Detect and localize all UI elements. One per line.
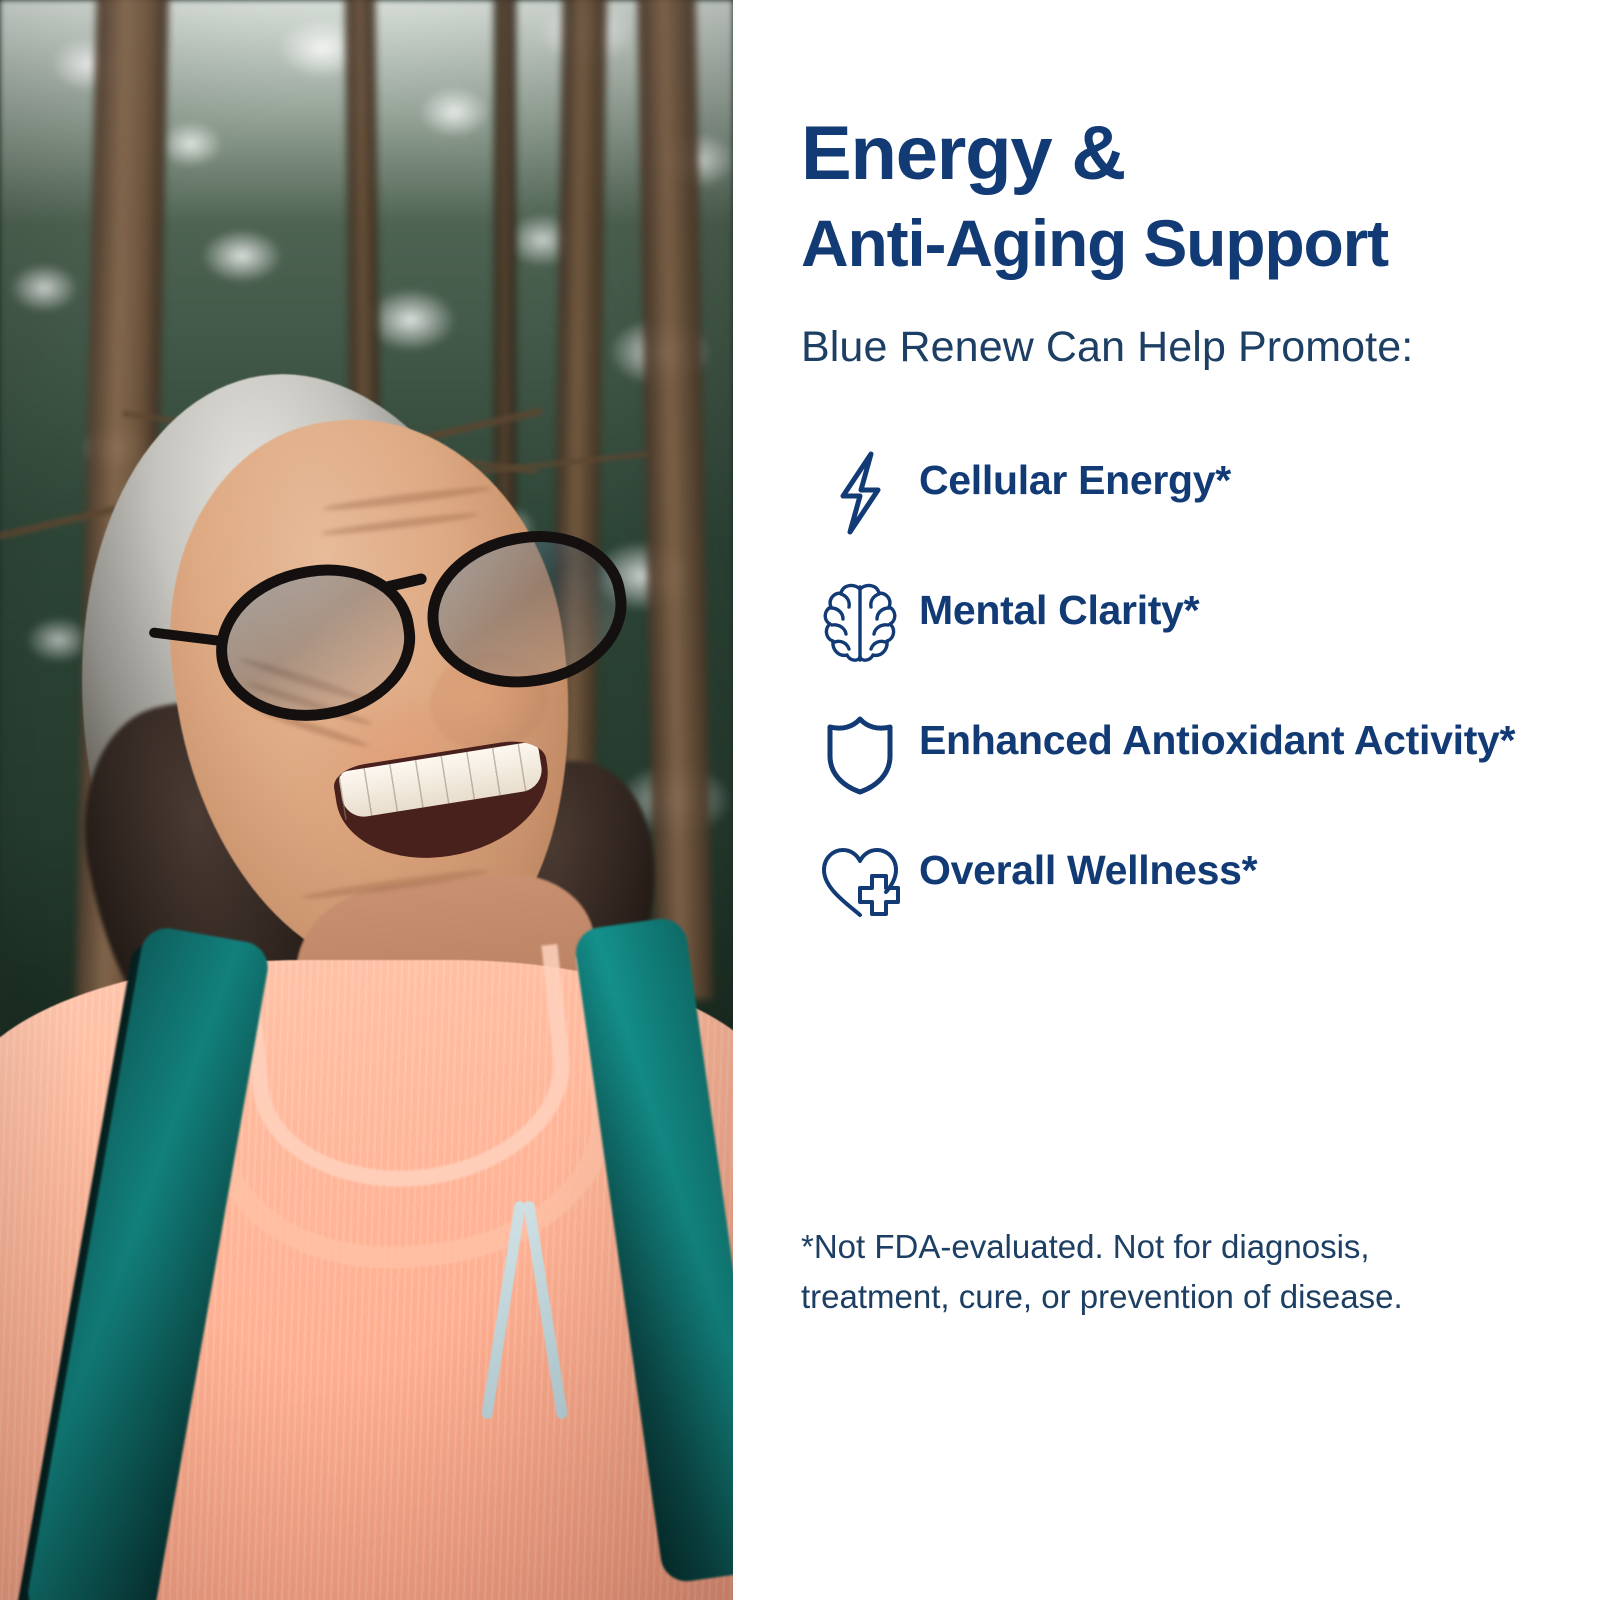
photo-vignette [0, 0, 733, 1600]
headline-line-2: Anti-Aging Support [801, 206, 1530, 280]
subtitle: Blue Renew Can Help Promote: [801, 318, 1530, 376]
shield-icon [801, 708, 919, 796]
benefit-label: Cellular Energy* [919, 448, 1231, 506]
benefit-item-cellular-energy: Cellular Energy* [801, 448, 1530, 540]
fda-disclaimer: *Not FDA-evaluated. Not for diagnosis, t… [801, 1222, 1421, 1322]
benefit-item-mental-clarity: Mental Clarity* [801, 578, 1530, 670]
page-title: Energy & Anti-Aging Support [801, 112, 1530, 280]
benefit-label: Mental Clarity* [919, 578, 1199, 636]
heart-plus-icon [801, 838, 919, 922]
lifestyle-photo [0, 0, 733, 1600]
benefit-label: Enhanced Antioxidant Activity* [919, 708, 1515, 766]
product-benefits-page: Energy & Anti-Aging Support Blue Renew C… [0, 0, 1600, 1600]
content-panel: Energy & Anti-Aging Support Blue Renew C… [733, 0, 1600, 1600]
benefits-list: Cellular Energy* [801, 448, 1530, 930]
benefit-item-overall-wellness: Overall Wellness* [801, 838, 1530, 930]
benefit-label: Overall Wellness* [919, 838, 1257, 896]
brain-icon [801, 578, 919, 666]
headline-line-1: Energy & [801, 112, 1530, 196]
benefit-item-antioxidant: Enhanced Antioxidant Activity* [801, 708, 1530, 800]
lightning-bolt-icon [801, 448, 919, 536]
